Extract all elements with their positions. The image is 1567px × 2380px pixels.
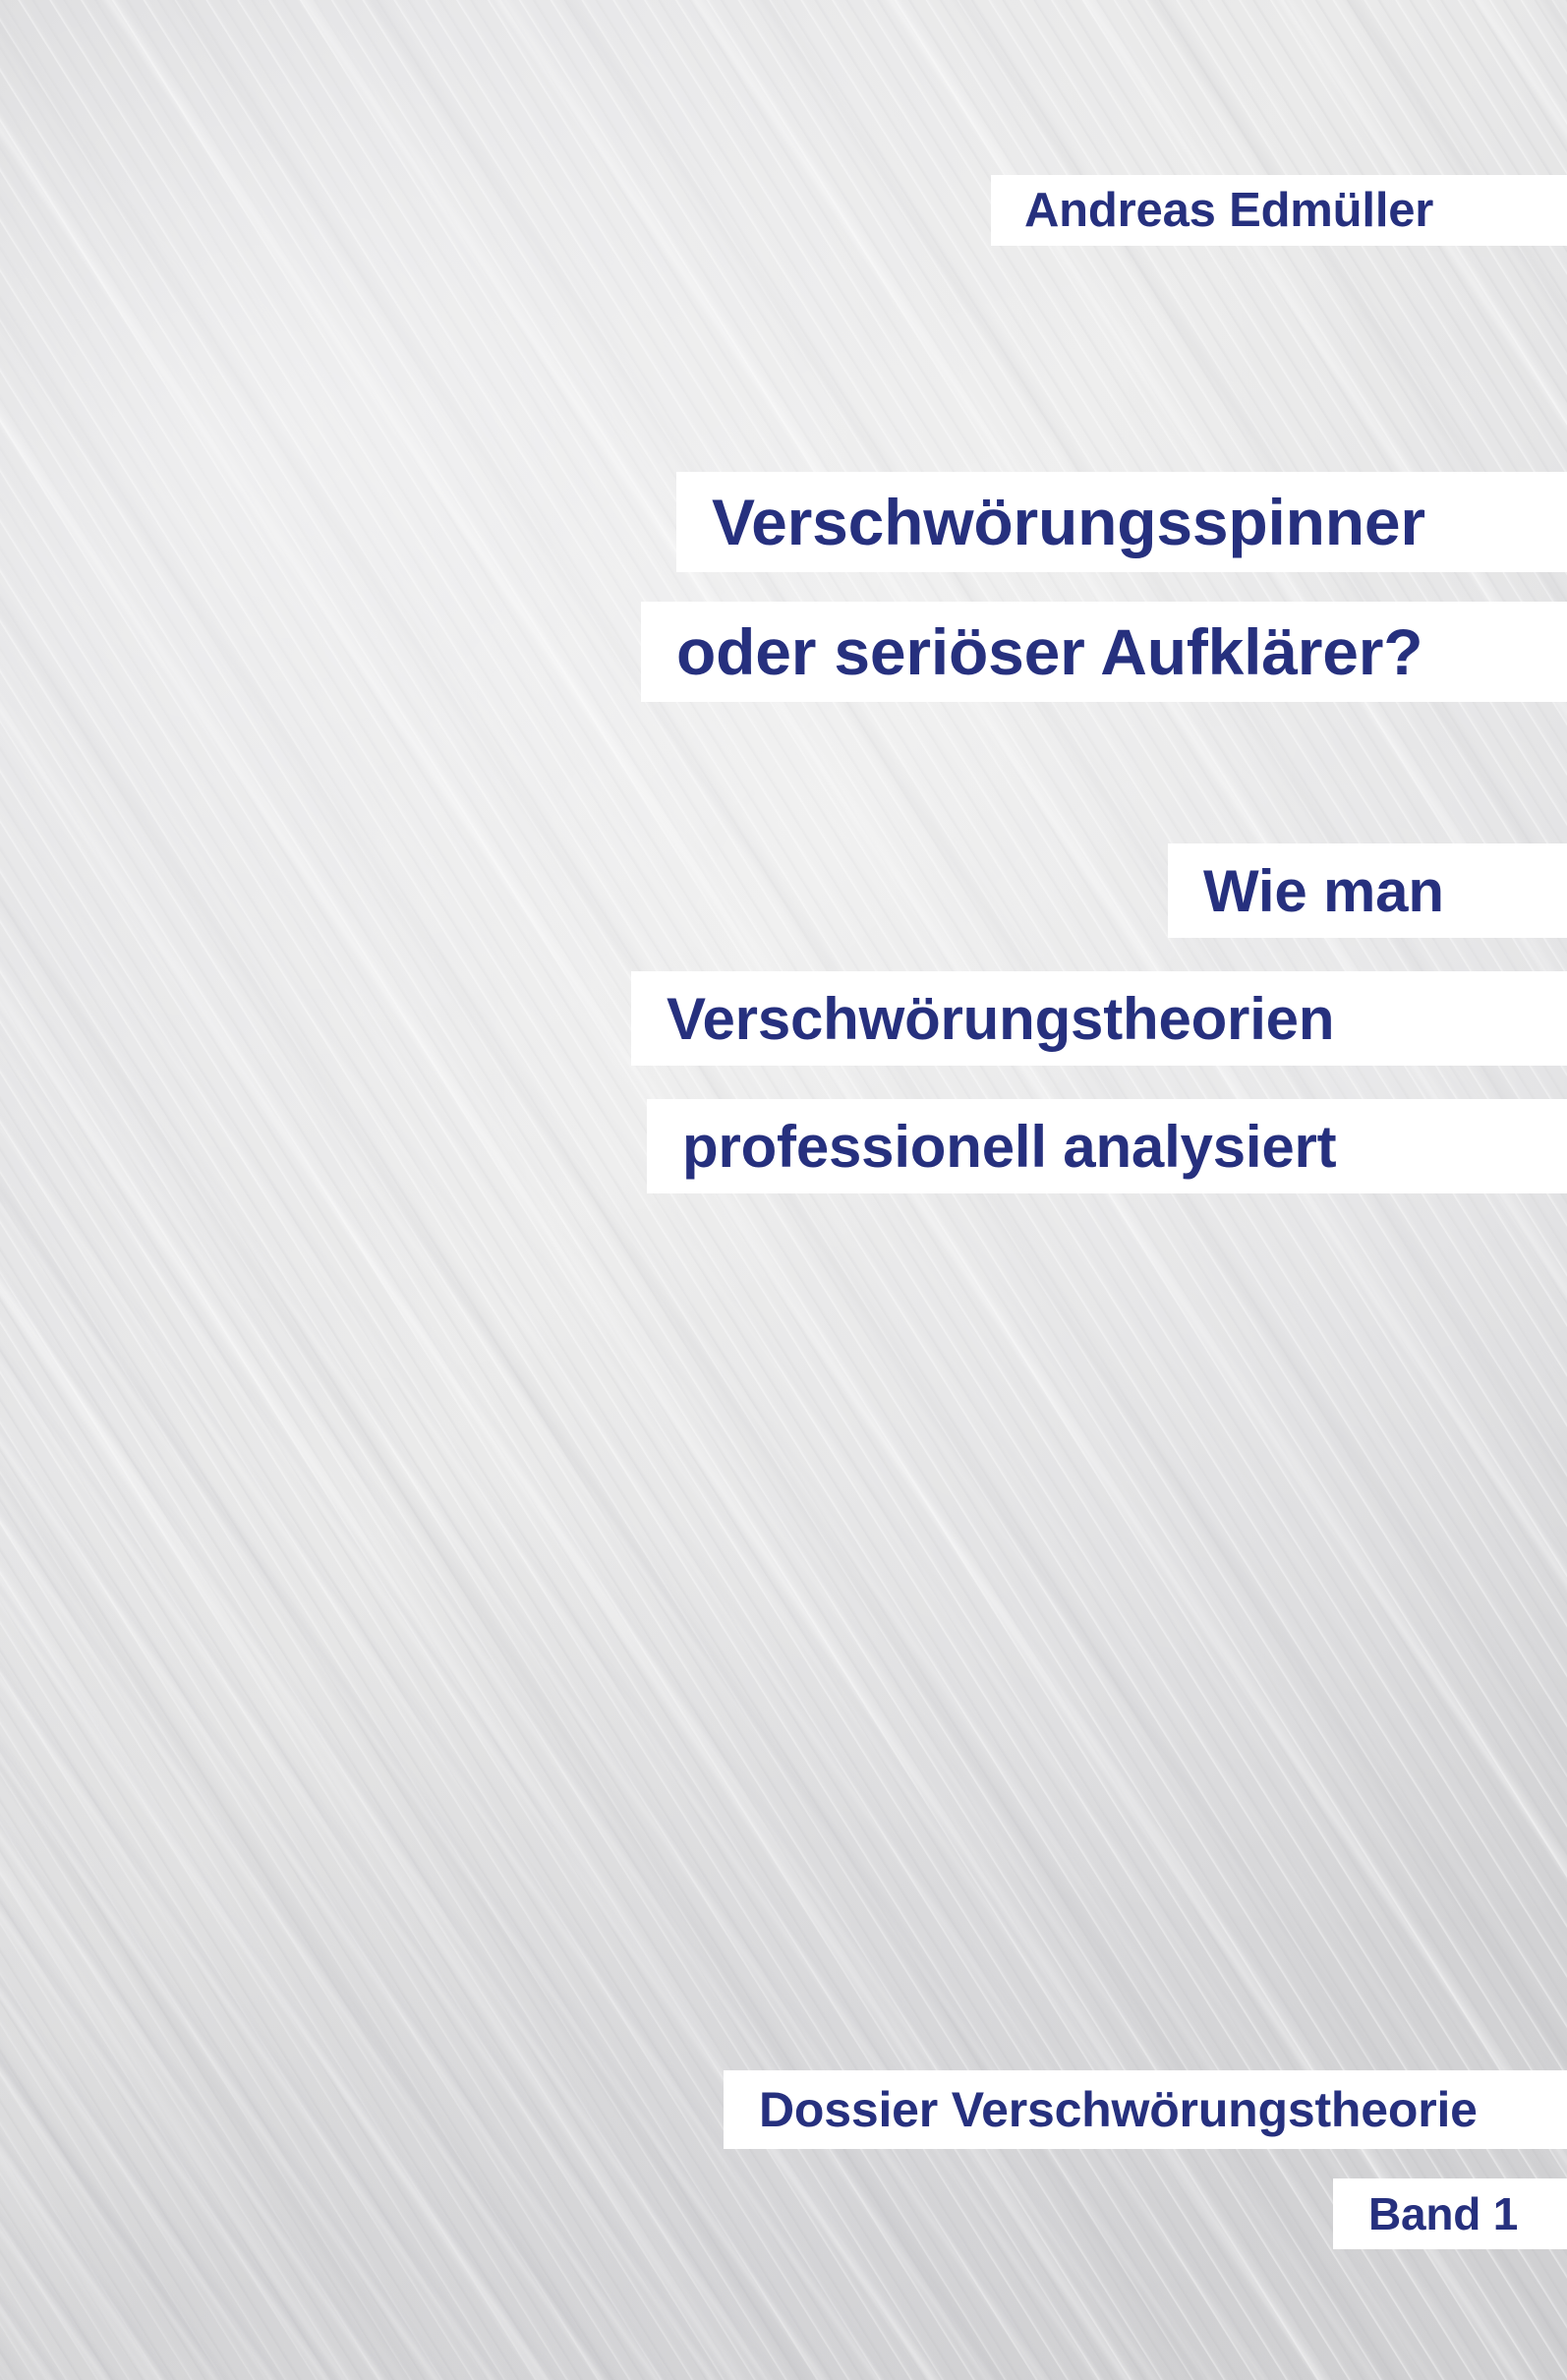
subtitle-line-2: Verschwörungstheorien <box>667 985 1334 1053</box>
series-name-plate: Dossier Verschwörungstheorie <box>724 2070 1567 2149</box>
subtitle-line-2-plate: Verschwörungstheorien <box>631 971 1567 1066</box>
series-name: Dossier Verschwörungstheorie <box>759 2081 1478 2138</box>
volume-label: Band 1 <box>1368 2187 1518 2240</box>
title-line-2: oder seriöser Aufklärer? <box>676 614 1422 689</box>
subtitle-line-3: professionell analysiert <box>682 1113 1336 1181</box>
title-line-1: Verschwörungsspinner <box>712 485 1425 559</box>
volume-plate: Band 1 <box>1333 2178 1567 2249</box>
subtitle-line-3-plate: professionell analysiert <box>647 1099 1567 1193</box>
author-name: Andreas Edmüller <box>1024 183 1433 238</box>
author-plate: Andreas Edmüller <box>991 175 1567 246</box>
title-line-1-plate: Verschwörungsspinner <box>676 472 1567 572</box>
subtitle-line-1: Wie man <box>1203 857 1444 925</box>
subtitle-line-1-plate: Wie man <box>1168 843 1567 938</box>
book-cover: Andreas Edmüller Verschwörungsspinner od… <box>0 0 1567 2380</box>
title-line-2-plate: oder seriöser Aufklärer? <box>641 602 1567 702</box>
